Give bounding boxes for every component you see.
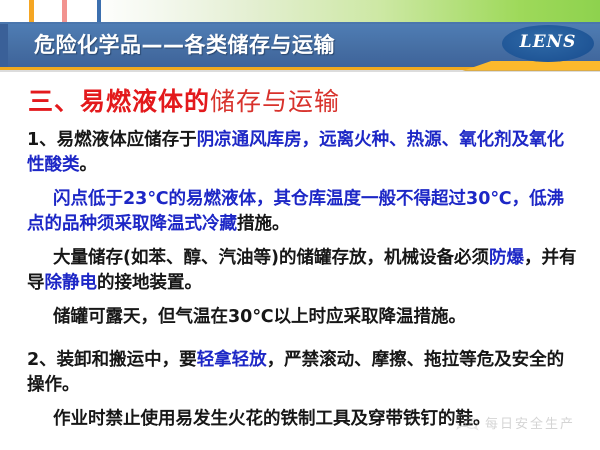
item1-l3-dark-a: 大量储存(如苯、醇、汽油等)的储罐存放，机械设备必须 [53, 248, 489, 268]
list-item-1-line-3: 大量储存(如苯、醇、汽油等)的储罐存放，机械设备必须防爆，并有导除静电的接地装置… [27, 246, 579, 296]
item1-l2-blue: 闪点低于23℃的易燃液体，其仓库温度一般不得超过30℃，低沸点的品种须采取降温式… [27, 189, 564, 234]
watermark-text: 每日安全生产 [485, 413, 575, 432]
header-rule-shadow [0, 70, 600, 72]
blue-accent-bar [97, 0, 101, 22]
pink-accent-bar [62, 0, 67, 22]
slide-header-title: 危险化学品——各类储存与运输 [34, 28, 335, 62]
item1-l2-dark: 措施。 [237, 214, 290, 234]
item1-l4-dark: 储罐可露天，但气温在30℃以上时应采取降温措施。 [53, 307, 466, 327]
list-item-2-line-1: 2、装卸和搬运中，要轻拿轻放，严禁滚动、摩擦、拖拉等危及安全的操作。 [27, 348, 579, 398]
section-heading: 三、易燃液体的储存与运输 [28, 86, 340, 118]
item2-l2-dark: 作业时禁止使用易发生火花的铁制工具及穿带铁钉的鞋。 [53, 409, 491, 429]
item2-l1-dark-a: 2、装卸和搬运中，要 [27, 350, 197, 370]
list-item-1-line-1: 1、易燃液体应储存于阴凉通风库房，远离火种、热源、氧化剂及氧化性酸类。 [27, 128, 579, 178]
item1-l1-dark-a: 1、易燃液体应储存于 [27, 130, 197, 150]
list-item-1-line-4: 储罐可露天，但气温在30℃以上时应采取降温措施。 [27, 305, 579, 330]
item1-l3-dark-c: 的接地装置。 [97, 273, 202, 293]
item1-l3-blue-b: 除静电 [45, 273, 98, 293]
section-heading-strong: 三、易燃液体的 [28, 87, 210, 116]
orange-accent-bar [29, 0, 34, 22]
list-item-1-line-2: 闪点低于23℃的易燃液体，其仓库温度一般不得超过30℃，低沸点的品种须采取降温式… [27, 187, 579, 237]
lens-logo-text: LENS [502, 32, 594, 52]
item2-l1-blue: 轻拿轻放 [197, 350, 267, 370]
wechat-icon [455, 412, 479, 432]
slide-body: 1、易燃液体应储存于阴凉通风库房，远离火种、热源、氧化剂及氧化性酸类。 闪点低于… [27, 128, 579, 432]
watermark: 每日安全生产 [455, 412, 575, 432]
item1-l1-dark-b: 。 [80, 155, 98, 175]
top-decorative-strip [0, 0, 600, 22]
lens-logo: LENS [502, 25, 594, 62]
item1-l3-blue-a: 防爆 [489, 248, 524, 268]
section-heading-light: 储存与运输 [210, 87, 340, 116]
